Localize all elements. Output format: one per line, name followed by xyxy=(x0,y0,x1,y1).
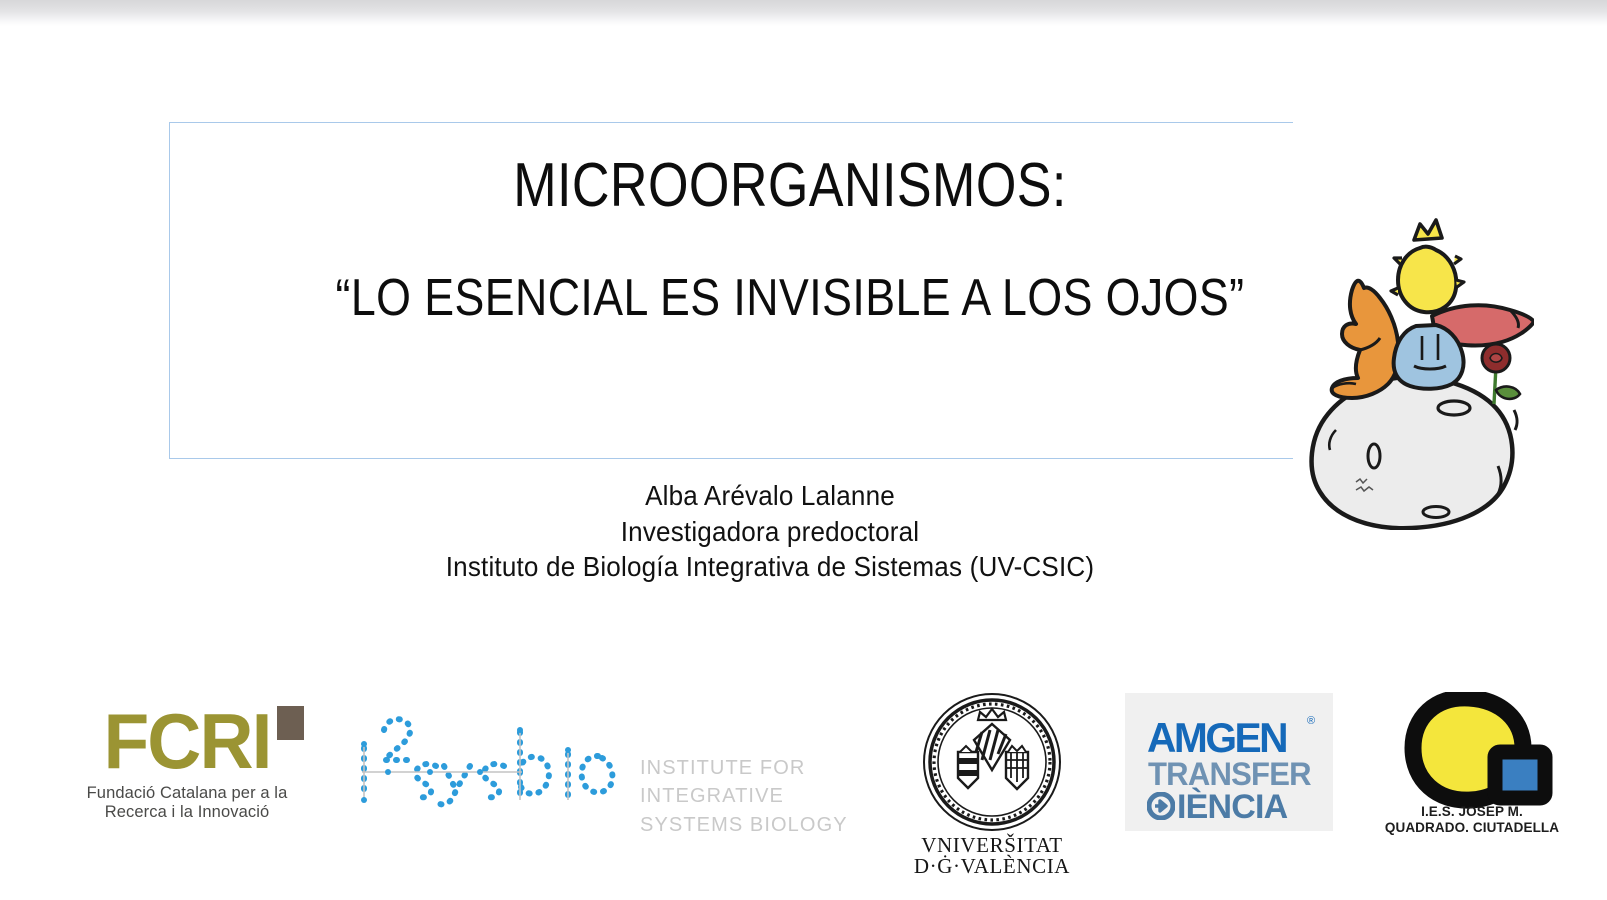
uv-wordmark-line-1: VΝIVERŠITAT xyxy=(912,835,1072,856)
viewer-top-edge xyxy=(0,0,1607,26)
i2sysbio-institute-name: INSTITUTE FOR INTEGRATIVE SYSTEMS BIOLOG… xyxy=(640,754,848,839)
fcri-accent-square xyxy=(277,706,304,740)
fcri-tagline-line-2: Recerca i la Innovació xyxy=(62,803,312,822)
author-name: Alba Arévalo Lalanne xyxy=(212,478,1328,514)
amgen-registered-mark: ® xyxy=(1307,715,1315,727)
uv-wordmark: VΝIVERŠITAT D·Ġ·VALÈNCIA xyxy=(912,835,1072,877)
fcri-tagline-line-1: Fundació Catalana per a la xyxy=(62,784,312,803)
sponsor-logo-strip: FCRI Fundació Catalana per a la Recerca … xyxy=(0,676,1607,876)
amgen-ciencia-label: IÈNCIA xyxy=(1177,788,1287,827)
uv-seal-icon xyxy=(920,690,1064,834)
title-line-subtitle: “LO ESENCIAL ES INVISIBLE A LOS OJOS” xyxy=(256,269,1324,329)
author-role: Investigadora predoctoral xyxy=(212,514,1328,550)
fcri-letters: FCRI xyxy=(103,700,270,782)
i2sysbio-name-line-1: INSTITUTE FOR xyxy=(640,754,848,782)
little-prince-illustration xyxy=(1288,218,1534,530)
fcri-wordmark: FCRI xyxy=(62,700,312,782)
i2sysbio-name-line-3: SYSTEMS BIOLOGY xyxy=(640,811,848,839)
author-affiliation: Instituto de Biología Integrativa de Sis… xyxy=(212,549,1328,585)
author-block: Alba Arévalo Lalanne Investigadora predo… xyxy=(170,478,1370,585)
arrow-circle-icon xyxy=(1147,792,1175,820)
i2sysbio-wordmark xyxy=(352,704,627,809)
fcri-tagline: Fundació Catalana per a la Recerca i la … xyxy=(62,784,312,823)
logo-amgen-transfer-ciencia: AMGEN ® TRANSFER IÈNCIA xyxy=(1125,693,1333,831)
ies-wordmark: I.E.S. JOSEP M. QUADRADO. CIUTADELLA xyxy=(1382,804,1562,836)
ies-emblem-icon xyxy=(1383,692,1561,812)
ies-wordmark-line-1: I.E.S. JOSEP M. xyxy=(1382,804,1562,820)
title-line-primary: MICROORGANISMOS: xyxy=(268,150,1311,221)
logo-ies-josep-m-quadrado: I.E.S. JOSEP M. QUADRADO. CIUTADELLA xyxy=(1382,692,1562,852)
amgen-wordmark: AMGEN xyxy=(1147,714,1286,762)
page-title: MICROORGANISMOS: “LO ESENCIAL ES INVISIB… xyxy=(169,150,1411,329)
logo-i2sysbio: INSTITUTE FOR INTEGRATIVE SYSTEMS BIOLOG… xyxy=(352,704,852,824)
uv-wordmark-line-2: D·Ġ·VALÈNCIA xyxy=(912,856,1072,877)
logo-fcri: FCRI Fundació Catalana per a la Recerca … xyxy=(62,700,312,850)
i2sysbio-name-line-2: INTEGRATIVE xyxy=(640,782,848,810)
ies-wordmark-line-2: QUADRADO. CIUTADELLA xyxy=(1382,820,1562,836)
presentation-slide: MICROORGANISMOS: “LO ESENCIAL ES INVISIB… xyxy=(0,0,1607,900)
logo-universitat-de-valencia: VΝIVERŠITAT D·Ġ·VALÈNCIA xyxy=(912,690,1072,880)
